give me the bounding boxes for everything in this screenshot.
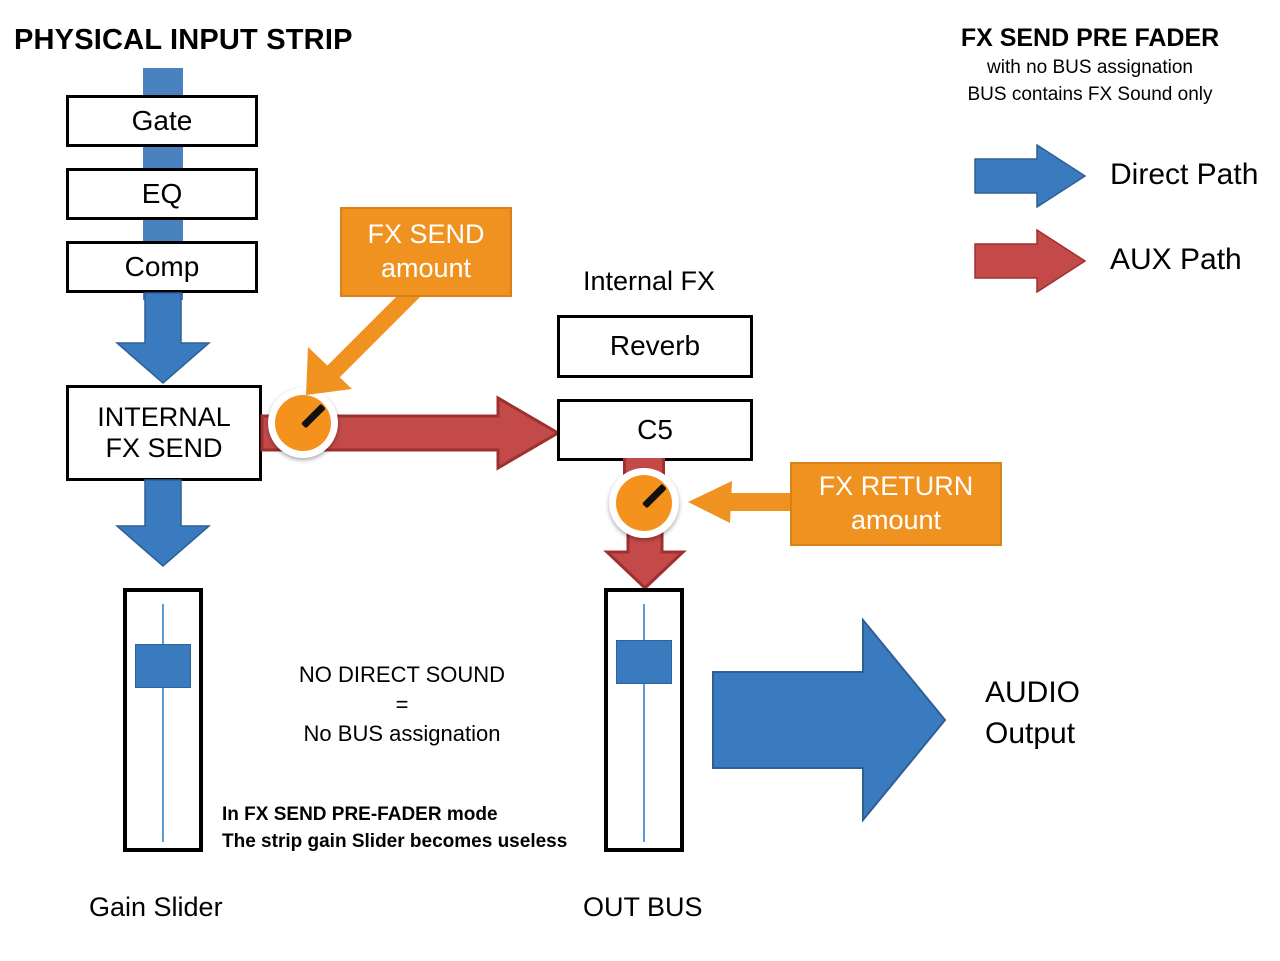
legend-direct-path-arrow-icon <box>975 145 1085 207</box>
fx-unit-label: Reverb <box>610 330 700 362</box>
internal-fx-send-label-line1: INTERNAL <box>97 402 231 433</box>
note-no-direct-sound: NO DIRECT SOUND = No BUS assignation <box>252 660 552 749</box>
gain-slider-caption: Gain Slider <box>89 892 223 923</box>
out-bus-fader-handle[interactable] <box>616 640 672 684</box>
internal-fx-send-box[interactable]: INTERNAL FX SEND <box>66 385 262 481</box>
note-line-3: No BUS assignation <box>252 719 552 749</box>
fx-unit-box-reverb[interactable]: Reverb <box>557 315 753 378</box>
legend-aux-path-arrow-icon <box>975 230 1085 292</box>
audio-output-line2: Output <box>985 714 1080 755</box>
processor-box-gate[interactable]: Gate <box>66 95 258 147</box>
audio-output-line1: AUDIO <box>985 673 1080 714</box>
fx-return-amount-callout[interactable]: FX RETURN amount <box>790 462 1002 546</box>
fx-return-callout-line2: amount <box>851 504 941 538</box>
fx-send-callout-line2: amount <box>381 252 471 286</box>
fx-unit-label: C5 <box>637 414 673 446</box>
note-bottom-line-1: In FX SEND PRE-FADER mode <box>222 802 567 829</box>
processor-box-comp[interactable]: Comp <box>66 241 258 293</box>
note-pre-fader-mode: In FX SEND PRE-FADER mode The strip gain… <box>222 802 567 855</box>
blue-down-arrow-to-send-icon <box>117 293 209 383</box>
processor-label: Comp <box>125 251 200 283</box>
processor-label: Gate <box>132 105 193 137</box>
note-line-2: = <box>252 690 552 720</box>
processor-box-eq[interactable]: EQ <box>66 168 258 220</box>
out-bus-caption: OUT BUS <box>583 892 703 923</box>
fx-send-callout-line1: FX SEND <box>367 218 484 252</box>
fx-return-callout-arrow-icon <box>688 481 798 523</box>
internal-fx-send-label-line2: FX SEND <box>105 433 222 464</box>
fx-unit-box-c5[interactable]: C5 <box>557 399 753 461</box>
diagram-canvas: PHYSICAL INPUT STRIP FX SEND PRE FADER w… <box>0 0 1280 961</box>
out-bus-fader[interactable] <box>604 588 684 852</box>
gain-slider-track <box>162 604 164 842</box>
gain-slider-handle[interactable] <box>135 644 191 688</box>
note-line-1: NO DIRECT SOUND <box>252 660 552 690</box>
note-bottom-line-2: The strip gain Slider becomes useless <box>222 829 567 856</box>
fx-send-callout-arrow-icon <box>300 285 420 400</box>
legend-subtitle-2: BUS contains FX Sound only <box>900 84 1280 106</box>
internal-fx-title: Internal FX <box>583 266 715 297</box>
fx-return-knob[interactable] <box>609 468 679 538</box>
legend-subtitle-1: with no BUS assignation <box>900 57 1280 79</box>
fx-send-amount-callout[interactable]: FX SEND amount <box>340 207 512 297</box>
blue-down-arrow-to-fader-icon <box>117 480 209 566</box>
gain-slider-fader[interactable] <box>123 588 203 852</box>
audio-output-arrow-icon <box>713 620 945 820</box>
page-title: PHYSICAL INPUT STRIP <box>14 24 353 57</box>
legend-item-label-direct: Direct Path <box>1110 158 1258 192</box>
audio-output-label: AUDIO Output <box>985 673 1080 754</box>
legend-item-label-aux: AUX Path <box>1110 243 1242 277</box>
fx-return-callout-line1: FX RETURN <box>819 470 974 504</box>
legend-title: FX SEND PRE FADER <box>900 24 1280 53</box>
processor-label: EQ <box>142 178 182 210</box>
